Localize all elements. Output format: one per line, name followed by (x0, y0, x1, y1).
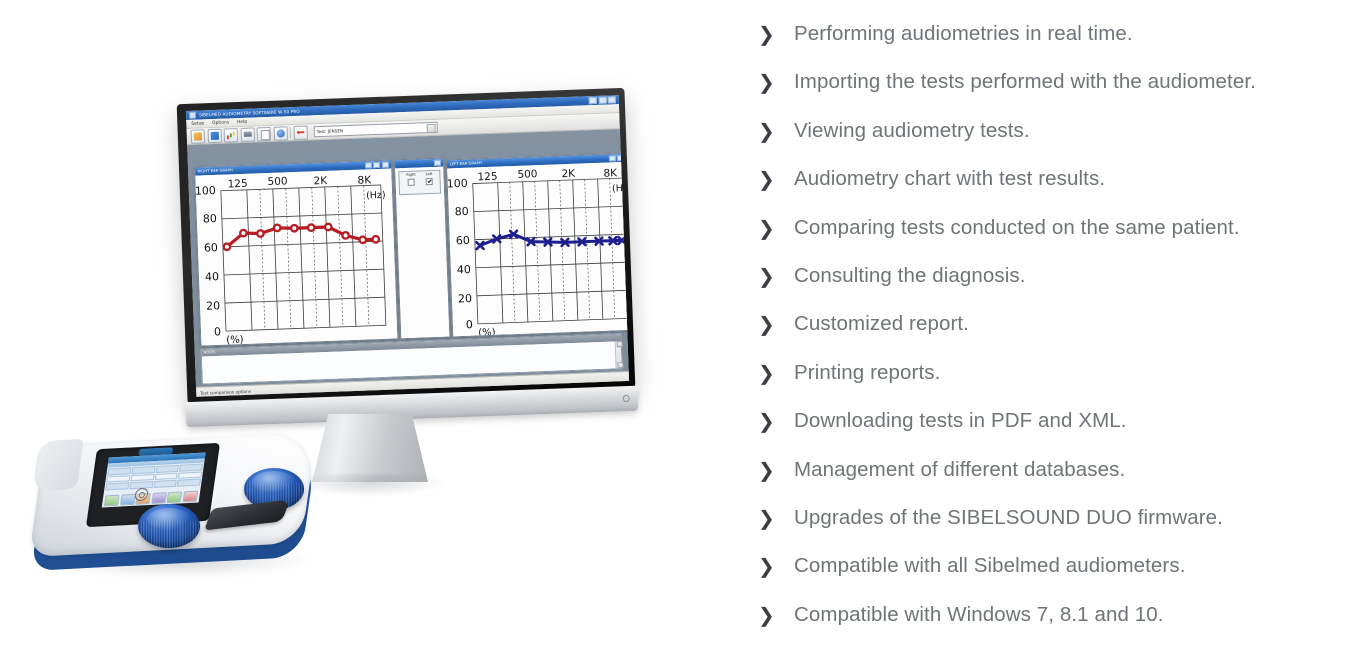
monitor-screen: SIBELMED AUDIOMETRY SOFTWARE W-50 PRO Se… (186, 95, 629, 397)
lcd-cell (106, 475, 130, 483)
close-icon[interactable] (625, 154, 629, 161)
svg-text:80: 80 (203, 212, 217, 226)
list-item[interactable]: ❯ Compatible with Windows 7, 8.1 and 10. (758, 603, 1318, 651)
ear-select-window-controls[interactable] (433, 159, 440, 166)
lcd-cell (107, 467, 131, 475)
ear-select-right-checkbox[interactable] (407, 178, 414, 185)
lcd-cell (178, 471, 202, 479)
lcd-icon-exit[interactable] (182, 491, 198, 503)
monitor-stand-neck (312, 414, 428, 482)
chevron-right-icon: ❯ (758, 119, 794, 142)
svg-text:20: 20 (458, 292, 472, 306)
list-item-label: Management of different databases. (794, 458, 1125, 481)
app-icon (189, 112, 196, 119)
left-ear-window-controls[interactable] (609, 154, 629, 161)
chevron-down-icon[interactable] (427, 124, 436, 133)
svg-text:500: 500 (517, 168, 537, 181)
svg-text:40: 40 (205, 270, 219, 284)
right-ear-chart-area: 100 80 60 40 20 0 125 500 (195, 168, 397, 346)
list-item[interactable]: ❯ Compatible with all Sibelmed audiomete… (758, 554, 1318, 602)
chevron-right-icon: ❯ (758, 216, 794, 239)
chevron-right-icon: ❯ (758, 70, 794, 93)
ear-select-body: Right Left (395, 166, 449, 338)
list-item[interactable]: ❯ Importing the tests performed with the… (758, 70, 1318, 118)
chevron-right-icon: ❯ (758, 312, 794, 335)
svg-text:0: 0 (466, 318, 473, 331)
right-ear-audiogram: 100 80 60 40 20 0 125 500 (195, 168, 397, 346)
left-ear-window[interactable]: LEFT EAR GRAPH 100 (446, 153, 629, 338)
lcd-cell (131, 466, 155, 474)
list-item[interactable]: ❯ Performing audiometries in real time. (758, 22, 1318, 70)
svg-text:(Hz): (Hz) (366, 189, 386, 201)
scroll-down-icon[interactable] (617, 362, 623, 368)
left-ear-chart-area: 100 80 60 40 20 0 125 500 2K (447, 161, 629, 336)
new-patient-icon[interactable] (191, 129, 206, 144)
lcd-icon-settings[interactable] (151, 492, 167, 504)
close-icon[interactable] (608, 96, 616, 104)
ear-select-left-label: Left (426, 172, 433, 176)
chevron-right-icon: ❯ (758, 361, 794, 384)
lcd-cell (130, 474, 154, 482)
list-item[interactable]: ❯ Comparing tests conducted on the same … (758, 216, 1318, 264)
svg-text:(%): (%) (478, 327, 496, 337)
chart-icon[interactable] (224, 128, 239, 143)
maximize-icon[interactable] (617, 154, 624, 161)
list-item[interactable]: ❯ Customized report. (758, 312, 1318, 360)
svg-text:125: 125 (477, 170, 497, 183)
close-icon[interactable] (381, 161, 388, 168)
chevron-right-icon: ❯ (758, 264, 794, 287)
minimize-icon[interactable] (365, 162, 372, 169)
maximize-icon[interactable] (598, 96, 606, 104)
open-database-icon[interactable] (207, 128, 222, 143)
list-item-label: Compatible with Windows 7, 8.1 and 10. (794, 603, 1164, 626)
list-item[interactable]: ❯ Consulting the diagnosis. (758, 264, 1318, 312)
left-ear-audiogram: 100 80 60 40 20 0 125 500 2K (447, 161, 629, 336)
svg-text:2K: 2K (561, 167, 576, 180)
lcd-cell (177, 479, 201, 487)
list-item-label: Importing the tests performed with the a… (794, 70, 1256, 93)
list-item-label: Viewing audiometry tests. (794, 119, 1030, 142)
product-visual: SIBELMED AUDIOMETRY SOFTWARE W-50 PRO Se… (0, 0, 740, 657)
toolbar-separator (290, 127, 291, 138)
power-icon[interactable] (623, 395, 630, 402)
list-item-label: Performing audiometries in real time. (794, 22, 1133, 45)
list-item[interactable]: ❯ Upgrades of the SIBELSOUND DUO firmwar… (758, 506, 1318, 554)
monitor: SIBELMED AUDIOMETRY SOFTWARE W-50 PRO Se… (177, 88, 636, 404)
svg-text:100: 100 (195, 183, 216, 197)
svg-text:100: 100 (447, 176, 468, 190)
right-ear-window[interactable]: RIGHT EAR GRAPH (194, 159, 398, 346)
patient-select[interactable]: Test: JENSEN (314, 122, 438, 138)
window-controls[interactable] (589, 96, 616, 104)
chevron-right-icon: ❯ (758, 22, 794, 45)
copy-icon[interactable] (257, 126, 272, 141)
ear-select-window[interactable]: Right Left (394, 158, 451, 340)
statusbar-text: Test comparison options (200, 389, 251, 396)
minimize-icon[interactable] (589, 97, 597, 105)
left-ear-window-title: LEFT EAR GRAPH (449, 160, 481, 166)
chevron-right-icon: ❯ (758, 167, 794, 190)
left-ear-series-markers (476, 226, 625, 248)
device-side-lip (32, 439, 83, 491)
scroll-up-icon[interactable] (616, 341, 622, 347)
list-item[interactable]: ❯ Audiometry chart with test results. (758, 167, 1318, 215)
undo-icon[interactable] (293, 125, 308, 140)
menu-item-setup[interactable]: Setup (191, 121, 204, 126)
monitor-bezel: SIBELMED AUDIOMETRY SOFTWARE W-50 PRO Se… (177, 88, 636, 404)
svg-text:60: 60 (204, 241, 218, 255)
lcd-cell (105, 482, 129, 490)
list-item[interactable]: ❯ Printing reports. (758, 361, 1318, 409)
lcd-cell (154, 472, 178, 480)
list-item-label: Upgrades of the SIBELSOUND DUO firmware. (794, 506, 1223, 529)
svg-text:80: 80 (455, 204, 469, 218)
ear-select-right-label: Right (406, 173, 416, 177)
maximize-icon[interactable] (373, 161, 380, 168)
list-item[interactable]: ❯ Viewing audiometry tests. (758, 119, 1318, 167)
feature-list: ❯ Performing audiometries in real time. … (758, 0, 1318, 657)
list-item-label: Comparing tests conducted on the same pa… (794, 216, 1240, 239)
svg-text:20: 20 (206, 299, 220, 313)
page-root: SIBELMED AUDIOMETRY SOFTWARE W-50 PRO Se… (0, 0, 1348, 657)
menu-item-options[interactable]: Options (212, 120, 229, 126)
lcd-icon-print[interactable] (167, 491, 183, 503)
svg-text:500: 500 (267, 175, 287, 188)
help-icon[interactable] (273, 126, 288, 141)
list-item-label: Compatible with all Sibelmed audiometers… (794, 554, 1186, 577)
lcd-cell (155, 465, 179, 473)
svg-text:0: 0 (214, 325, 221, 338)
svg-text:40: 40 (457, 262, 471, 276)
menu-item-help[interactable]: Help (237, 119, 247, 124)
close-icon[interactable] (433, 159, 440, 166)
lcd-icon-start[interactable] (104, 495, 120, 507)
chevron-right-icon: ❯ (758, 603, 794, 626)
svg-text:(%): (%) (226, 334, 244, 346)
list-item[interactable]: ❯ Downloading tests in PDF and XML. (758, 409, 1318, 457)
list-item-label: Printing reports. (794, 361, 940, 384)
lcd-cell (153, 480, 177, 488)
right-ear-window-title: RIGHT EAR GRAPH (198, 168, 233, 174)
svg-text:8K: 8K (357, 174, 372, 187)
list-item[interactable]: ❯ Management of different databases. (758, 458, 1318, 506)
svg-text:(Hz: (Hz (612, 182, 628, 194)
ear-select-left-checkbox[interactable] (425, 178, 432, 185)
app-workspace: RIGHT EAR GRAPH (187, 129, 629, 397)
list-item-label: Downloading tests in PDF and XML. (794, 409, 1127, 432)
list-item-label: Consulting the diagnosis. (794, 264, 1026, 287)
chevron-right-icon: ❯ (758, 554, 794, 577)
minimize-icon[interactable] (609, 155, 616, 162)
audiometer-device (32, 424, 322, 584)
svg-text:2K: 2K (313, 174, 328, 187)
chevron-right-icon: ❯ (758, 409, 794, 432)
notes-scrollbar[interactable] (615, 341, 622, 369)
patient-select-value: Test: JENSEN (317, 128, 344, 134)
lcd-icon-row[interactable] (104, 491, 198, 507)
svg-text:8K: 8K (603, 167, 618, 180)
list-item-label: Audiometry chart with test results. (794, 167, 1105, 190)
lcd-cell (179, 464, 203, 472)
chevron-right-icon: ❯ (758, 506, 794, 529)
lcd-table[interactable] (104, 463, 204, 491)
chevron-right-icon: ❯ (758, 458, 794, 481)
import-icon[interactable] (240, 127, 255, 142)
list-item-label: Customized report. (794, 312, 969, 335)
svg-text:125: 125 (227, 177, 247, 190)
left-knob[interactable] (138, 504, 200, 548)
device-lcd[interactable] (102, 453, 206, 508)
svg-text:60: 60 (456, 233, 470, 247)
lcd-icon-patient[interactable] (120, 494, 136, 506)
ear-select-group[interactable]: Right Left (398, 169, 441, 195)
